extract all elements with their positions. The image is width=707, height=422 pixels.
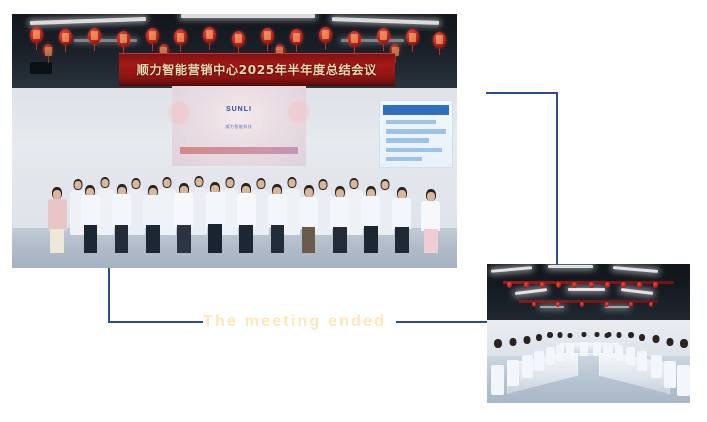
person-figure: [580, 332, 588, 356]
person-figure: [556, 332, 564, 361]
lantern-icon: [621, 282, 626, 288]
person-figure: [603, 333, 611, 359]
lantern-icon: [232, 31, 245, 47]
board-row: [386, 129, 446, 134]
person-figure: [546, 332, 555, 365]
person-figure: [268, 184, 287, 253]
person-figure: [626, 332, 635, 365]
lantern-icon: [532, 302, 536, 307]
person-figure: [637, 334, 647, 371]
lantern-icon: [540, 282, 545, 288]
ceiling-light: [540, 306, 564, 308]
lantern-icon: [524, 282, 529, 288]
person-figure: [206, 182, 225, 253]
event-banner: 顺力智能营销中心2025年半年度总结会议: [119, 53, 395, 85]
person-figure: [112, 184, 131, 253]
person-figure: [534, 334, 544, 371]
person-figure: [677, 339, 690, 396]
meeting-room-photo[interactable]: [487, 264, 690, 403]
lantern-icon: [605, 302, 609, 307]
lantern-icon: [117, 31, 130, 47]
board-row: [386, 148, 442, 153]
board-row: [386, 138, 429, 143]
lantern-icon: [319, 27, 332, 43]
person-figure: [566, 333, 574, 359]
right-connector-vertical: [556, 92, 558, 265]
screen-title-band: [180, 147, 297, 154]
projector-box: [30, 62, 52, 74]
ceiling-light: [548, 265, 593, 268]
lantern-icon: [88, 28, 101, 44]
person-figure: [81, 185, 100, 253]
person-figure: [392, 187, 411, 253]
person-figure: [237, 183, 256, 253]
event-banner-text: 顺力智能营销中心2025年半年度总结会议: [137, 61, 377, 78]
person-figure: [664, 338, 676, 388]
lantern-icon: [433, 32, 446, 48]
lantern-icon: [589, 282, 594, 288]
lantern-icon: [629, 302, 633, 307]
left-connector-vertical: [108, 268, 110, 323]
lantern-icon: [30, 27, 43, 43]
caption-text: The meeting ended: [203, 311, 386, 333]
person-figure: [522, 336, 533, 378]
right-connector-horizontal: [486, 92, 558, 94]
screen-logo-text: SUNLI: [226, 106, 252, 113]
projection-screen: SUNLI 顺力智能科技: [172, 85, 306, 166]
ceiling-light: [568, 288, 605, 291]
lantern-icon: [348, 31, 361, 47]
person-figure: [615, 332, 623, 361]
firework-graphic: [287, 100, 311, 124]
lantern-icon: [406, 29, 419, 45]
board-row: [386, 157, 422, 162]
person-figure: [330, 186, 349, 253]
screen-logo-subtitle: 顺力智能科技: [225, 124, 252, 130]
lantern-icon: [377, 28, 390, 44]
wall-info-board: [379, 100, 452, 168]
firework-graphic: [167, 101, 191, 125]
lantern-icon: [59, 29, 72, 45]
person-figure: [48, 187, 67, 253]
caption-left-rule: [108, 321, 203, 323]
lantern-icon: [146, 28, 159, 44]
slide-canvas: SUNLI 顺力智能科技 顺力智能营销中心2025年半年度总结会议: [0, 0, 707, 422]
ceiling-light: [181, 14, 315, 18]
board-header: [383, 105, 448, 116]
caption-right-rule: [396, 321, 487, 323]
group-photo[interactable]: SUNLI 顺力智能科技 顺力智能营销中心2025年半年度总结会议: [12, 14, 457, 268]
person-figure: [507, 338, 519, 386]
ceiling-banner: [519, 300, 657, 303]
person-figure: [651, 335, 662, 378]
person-figure: [593, 332, 601, 356]
person-figure: [361, 186, 380, 253]
lantern-icon: [605, 282, 610, 288]
person-figure: [491, 339, 504, 395]
person-figure: [143, 185, 162, 253]
lantern-icon: [556, 302, 560, 307]
person-figure: [421, 189, 440, 253]
board-row: [386, 120, 436, 125]
person-figure: [299, 185, 318, 253]
person-figure: [174, 183, 193, 253]
